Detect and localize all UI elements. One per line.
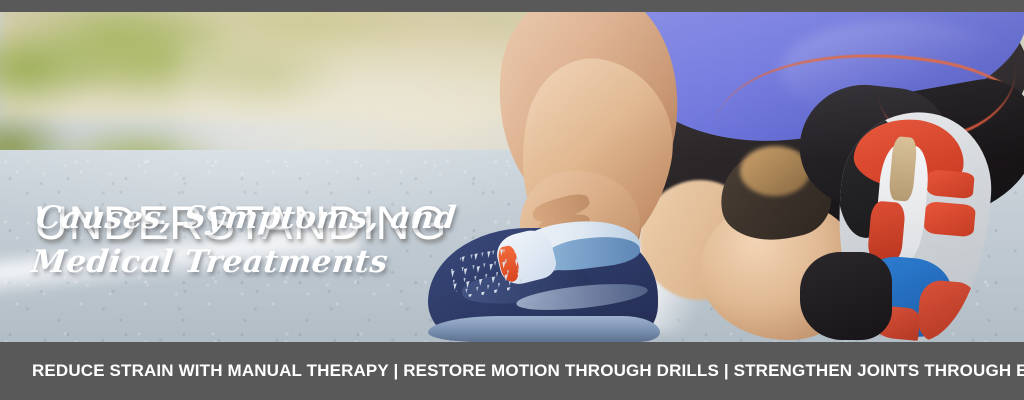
right-shoe-heel	[800, 252, 892, 340]
footer-strip: REDUCE STRAIN WITH MANUAL THERAPY | REST…	[0, 342, 1024, 400]
top-accent-bar	[0, 0, 1024, 12]
subtitle-line-1: Causes, Symptoms, and	[34, 196, 459, 240]
footer-strip-text: REDUCE STRAIN WITH MANUAL THERAPY | REST…	[0, 361, 1024, 381]
sole-red-lug	[927, 169, 975, 199]
subtitle-line-2: Medical Treatments	[29, 240, 454, 284]
page-subtitle: Causes, Symptoms, and Medical Treatments	[29, 196, 458, 284]
sole-red-heel-lug	[916, 279, 979, 346]
hero-banner: UNDERSTANDING TENDON INJURIES: Causes, S…	[0, 0, 1024, 400]
sole-red-lug	[923, 201, 976, 237]
